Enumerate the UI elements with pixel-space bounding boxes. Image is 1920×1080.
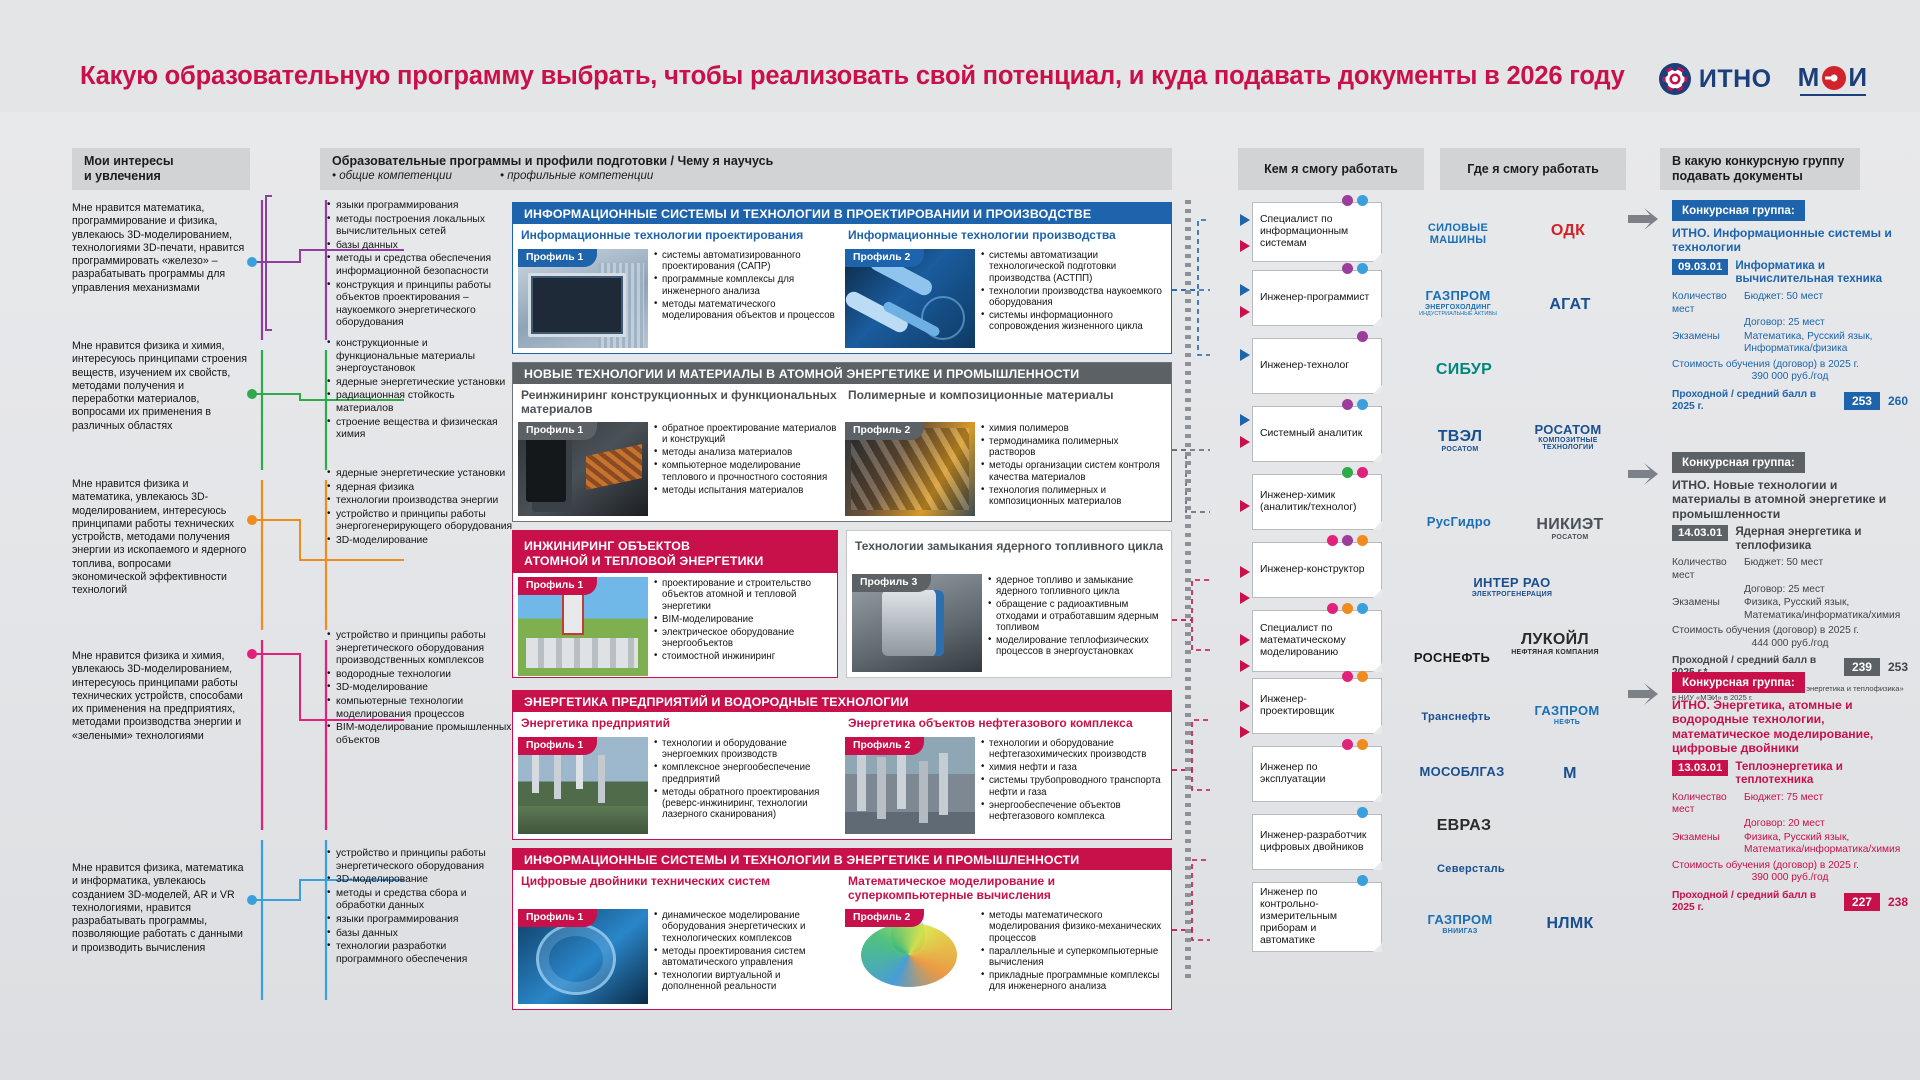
competence-list-2: ядерные энергетические установкиядерная … [327,468,513,548]
companies-column: СИЛОВЫЕ МАШИНЫОДКГАЗПРОМЭНЕРГОХОЛДИНГИНД… [1400,196,1622,1016]
bullet-item: проектирование и строительство объектов … [654,578,832,612]
profile-3-0[interactable]: Энергетика предприятий Профиль 1 техноло… [518,716,839,834]
bullet-item: технология полимерных и композиционных м… [981,485,1166,508]
cg-cost-value-1: 444 000 руб./год [1672,638,1908,650]
cg-cost-label-2: Стоимость обучения (договор) в 2025 г. [1672,860,1859,871]
microscope-image: Профиль 1 [518,422,648,516]
competence-item: компьютерные технологии моделирования пр… [327,696,513,721]
competence-group-2: ядерные энергетические установкиядерная … [327,468,513,549]
company-logo: ЛУКОЙЛНЕФТЯНАЯ КОМПАНИЯ [1492,620,1618,668]
job-label: Инженер-разработчик цифровых двойников [1260,830,1374,854]
profile-bullets-3-1: технологии и оборудование нефтегазохимич… [981,737,1166,834]
cg-seats-contract-2: Договор: 20 мест [1744,818,1908,831]
company-logo-name: ГАЗПРОМ [1419,289,1497,303]
col-groups-line2: подавать документы [1672,169,1844,184]
cg-exams-key-2: Экзамены [1672,832,1738,857]
header-bar: Какую образовательную программу выбрать,… [0,0,1920,112]
col-programs-sub1: • общие компетенции [332,169,500,184]
profile-tag-1-0: Профиль 1 [518,422,597,440]
industrial-plant-image: Профиль 1 [518,737,648,834]
competence-item: базы данных [327,240,513,253]
bullet-item: системы трубопроводного транспорта нефти… [981,775,1166,798]
profile-4-0[interactable]: Цифровые двойники технических систем Про… [518,874,839,1004]
job-card[interactable]: Системный аналитик [1252,406,1382,462]
cg-name-1: ИТНО. Новые технологии и материалы в ато… [1672,478,1908,521]
job-card[interactable]: Инженер-химик (аналитик/технолог) [1252,474,1382,530]
cg-exams-value-1: Физика, Русский язык, Математика/информа… [1744,597,1908,622]
tag-dot [1327,535,1338,546]
bullet-item: параллельные и суперкомпьютерные вычисле… [981,946,1166,969]
tag-dot [1327,603,1338,614]
bullet-item: компьютерное моделирование теплового и п… [654,460,839,483]
company-logo-sub: ВНИИГАЗ [1428,928,1493,935]
tag-dot [1342,467,1353,478]
company-logo-sub: ЭЛЕКТРОГЕНЕРАЦИЯ [1472,591,1552,598]
bullet-item: динамическое моделирование оборудования … [654,910,839,944]
company-logo-name: СИБУР [1436,362,1492,379]
bullet-item: методы математического моделирования физ… [981,910,1166,944]
bullet-item: химия нефти и газа [981,762,1166,773]
competence-item: языки программирования [327,914,513,927]
company-logo: СИБУР [1408,348,1520,392]
tag-dot [1342,263,1353,274]
profile-heading-4-0: Цифровые двойники технических систем [521,875,839,905]
cg-cost-value-0: 390 000 руб./год [1672,371,1908,383]
company-logo-name: ТВЭЛ [1438,429,1483,446]
itno-logo: ИТНО [1658,62,1772,96]
company-logo: РОСНЕФТЬ [1416,634,1488,682]
cg-score-label-2: Проходной / средний балл в 2025 г. [1672,890,1836,914]
company-logo-sub: РОСАТОМ [1438,446,1483,453]
job-tag-dots [1342,467,1368,478]
competence-item: устройство и принципы работы энергетичес… [327,848,513,873]
profile-heading-3-1: Энергетика объектов нефтегазового компле… [848,717,1166,733]
job-label: Системный аналитик [1260,428,1362,440]
tag-dot [1357,263,1368,274]
itno-logo-text: ИТНО [1699,65,1772,94]
column-header-groups: В какую конкурсную группу подавать докум… [1660,148,1860,190]
job-card[interactable]: Инженер по эксплуатации [1252,746,1382,802]
bullet-item: энергообеспечение объектов нефтегазового… [981,800,1166,823]
profile-2-left[interactable]: Профиль 1 проектирование и строительство… [518,577,832,676]
cg-code-0: 09.03.01 [1672,259,1728,275]
profile-0-0[interactable]: Информационные технологии проектирования… [518,228,839,348]
polymer-materials-image: Профиль 2 [845,422,975,516]
program-block-2-right[interactable]: Технологии замыкания ядерного топливного… [846,530,1172,678]
job-tag-dots [1342,195,1368,206]
program-title-2-line1: ИНЖИНИРИНГ ОБЪЕКТОВ [524,539,690,554]
bullet-item: системы автоматизированного проектирован… [654,250,839,273]
cg-score-label-0: Проходной / средний балл в 2025 г. [1672,389,1836,413]
competence-group-3: устройство и принципы работы энергетичес… [327,630,513,748]
moi-emblem-icon [1821,65,1847,91]
cg-cost-label-1: Стоимость обучения (договор) в 2025 г. [1672,625,1859,636]
competence-item: 3D-моделирование [327,682,513,695]
interest-item-1: Мне нравится физика и химия, интересуюсь… [72,340,248,433]
profile-tag-3-0: Профиль 1 [518,737,597,755]
competence-item: ядерные энергетические установки [327,377,513,390]
competence-list-3: устройство и принципы работы энергетичес… [327,630,513,747]
job-label: Инженер-программист [1260,292,1369,304]
bullet-item: методы проектирования систем автоматичес… [654,946,839,969]
job-card[interactable]: Инженер-программист [1252,270,1382,326]
column-header-places: Где я смогу работать [1440,148,1626,190]
tag-dot [1357,807,1368,818]
logo-group: ИТНО М И [1658,62,1868,96]
job-tag-dots [1357,875,1368,886]
profile-heading-0-0: Информационные технологии проектирования [521,229,839,245]
job-card[interactable]: Специалист по информационным системам [1252,202,1382,262]
program-title-0: ИНФОРМАЦИОННЫЕ СИСТЕМЫ И ТЕХНОЛОГИИ В ПР… [513,203,1171,224]
job-tag-dots [1342,739,1368,750]
digital-twin-turbine-image: Профиль 1 [518,909,648,1004]
bullet-item: методы анализа материалов [654,447,839,458]
cfd-simulation-image: Профиль 2 [845,909,975,1004]
profile-bullets-4-1: методы математического моделирования физ… [981,909,1166,1004]
competence-group-1: конструкционные и функциональные материа… [327,338,513,443]
company-logo: НИКИЭТРОСАТОМ [1522,496,1618,562]
bullet-item: технологии и оборудование нефтегазохимич… [981,738,1166,761]
program-block-4[interactable]: ИНФОРМАЦИОННЫЕ СИСТЕМЫ И ТЕХНОЛОГИИ В ЭН… [512,848,1172,1010]
tag-dot [1342,195,1353,206]
col-interests-line1: Мои интересы [84,154,174,169]
bullet-item: термодинамика полимерных растворов [981,436,1166,459]
competence-item: конструкция и принципы работы объектов п… [327,280,513,330]
cg-direction-1: Ядерная энергетика и теплофизика [1735,525,1908,552]
company-logo: СИЛОВЫЕ МАШИНЫ [1406,202,1510,268]
company-logo: Северсталь [1414,850,1528,890]
bullet-item: электрическое оборудование энергообъекто… [654,627,832,650]
job-label: Специалист по математическому моделирова… [1260,623,1374,660]
tag-dot [1357,739,1368,750]
company-logo: АГАТ [1522,266,1618,344]
job-tag-dots [1327,603,1368,614]
competence-list-1: конструкционные и функциональные материа… [327,338,513,442]
company-logo: ГАЗПРОМНЕФТЬ [1516,686,1618,744]
company-logo-sub: ЭНЕРГОХОЛДИНГ [1419,304,1497,311]
company-logo-name: M [1563,766,1577,783]
job-card[interactable]: Инженер-технолог [1252,338,1382,394]
bullet-item: стоимостной инжиниринг [654,651,832,662]
company-logo: РусГидро [1404,492,1514,552]
company-logo-sub: НЕФТЯНАЯ КОМПАНИЯ [1511,649,1599,656]
cg-direction-2: Теплоэнергетика и теплотехника [1735,760,1908,787]
cad-workstation-image: Профиль 1 [518,249,648,348]
tag-dot [1357,603,1368,614]
profile-2-right[interactable]: Технологии замыкания ядерного топливного… [852,539,1166,672]
profile-heading-4-1: Математическое моделирование и суперкомп… [848,875,1166,905]
bullet-item: методы организации систем контроля качес… [981,460,1166,483]
competence-list-4: устройство и принципы работы энергетичес… [327,848,513,966]
profile-tag-4-0: Профиль 1 [518,909,597,927]
competence-item: базы данных [327,928,513,941]
company-logo: ГАЗПРОМЭНЕРГОХОЛДИНГИНДУСТРИАЛЬНЫЕ АКТИВ… [1402,272,1514,334]
program-block-2-left[interactable]: ИНЖИНИРИНГ ОБЪЕКТОВ АТОМНОЙ И ТЕПЛОВОЙ Э… [512,530,838,678]
cg-seats-contract-0: Договор: 25 мест [1744,317,1908,330]
bullet-item: BIM-моделирование [654,614,832,625]
job-label: Инженер по эксплуатации [1260,762,1374,786]
company-logo-sub: НЕФТЬ [1535,719,1600,726]
bullet-item: технологии и оборудование энергоемких пр… [654,738,839,761]
competence-group-4: устройство и принципы работы энергетичес… [327,848,513,967]
cg-seats-budget-1: Бюджет: 50 мест [1744,557,1908,582]
interest-item-2: Мне нравится физика и математика, увлека… [72,478,248,598]
tag-dot [1342,739,1353,750]
bullet-item: системы автоматизации технологической по… [981,250,1166,284]
col-jobs-line1: Кем я смогу работать [1264,162,1398,177]
cg-code-2: 13.03.01 [1672,760,1728,776]
oil-refinery-image: Профиль 2 [845,737,975,834]
company-logo-name: ГАЗПРОМ [1428,913,1493,927]
cg-header-1: Конкурсная группа: [1672,452,1805,473]
moi-underline [1800,94,1866,96]
job-card[interactable]: Инженер-проектировщик [1252,678,1382,734]
competence-item: методы и средства сбора и обработки данн… [327,888,513,913]
company-logo-name: ИНТЕР РАО [1472,576,1552,590]
company-logo-name: ЕВРАЗ [1437,818,1492,835]
profile-heading-2-right: Технологии замыкания ядерного топливного… [855,540,1166,570]
job-tag-dots [1342,671,1368,682]
profile-bullets-3-0: технологии и оборудование энергоемких пр… [654,737,839,834]
tag-dot [1357,535,1368,546]
tag-dot [1357,467,1368,478]
company-logo-name: АГАТ [1549,297,1590,314]
program-block-0[interactable]: ИНФОРМАЦИОННЫЕ СИСТЕМЫ И ТЕХНОЛОГИИ В ПР… [512,202,1172,354]
bullet-item: обращение с радиоактивным отходами и отр… [988,599,1166,633]
company-logo: ОДК [1518,200,1618,262]
column-header-jobs: Кем я смогу работать [1238,148,1424,190]
profile-bullets-1-0: обратное проектирование материалов и кон… [654,422,839,516]
interest-item-4: Мне нравится физика, математика и информ… [72,862,248,955]
competence-item: водородные технологии [327,669,513,682]
company-logo-name: РусГидро [1427,515,1491,529]
cg-name-0: ИТНО. Информационные системы и технологи… [1672,226,1908,255]
company-logo-sub2: ИНДУСТРИАЛЬНЫЕ АКТИВЫ [1419,311,1497,317]
cg-header-0: Конкурсная группа: [1672,200,1805,221]
competence-item: языки программирования [327,200,513,213]
company-logo-name: РОСНЕФТЬ [1414,651,1490,665]
company-logo-name: НЛМК [1546,916,1593,933]
job-card[interactable]: Инженер-конструктор [1252,542,1382,598]
cg-exams-key-1: Экзамены [1672,597,1738,622]
competence-group-0: языки программированияметоды построения … [327,200,513,331]
profile-heading-0-1: Информационные технологии производства [848,229,1166,245]
tag-dot [1342,603,1353,614]
company-logo: ЕВРАЗ [1410,806,1518,846]
competence-item: конструкционные и функциональные материа… [327,338,513,376]
profile-1-0[interactable]: Реинжиниринг конструкционных и функциона… [518,388,839,516]
job-tag-dots [1327,535,1368,546]
company-logo-name: Северсталь [1437,864,1505,876]
program-block-1[interactable]: НОВЫЕ ТЕХНОЛОГИИ И МАТЕРИАЛЫ В АТОМНОЙ Э… [512,362,1172,522]
profile-tag-0-1: Профиль 2 [845,249,924,267]
program-title-2: ИНЖИНИРИНГ ОБЪЕКТОВ АТОМНОЙ И ТЕПЛОВОЙ Э… [513,531,837,573]
competence-item: 3D-моделирование [327,535,513,548]
profile-bullets-2-right: ядерное топливо и замыкание ядерного топ… [988,574,1166,672]
tag-dot [1357,331,1368,342]
program-title-2-line2: АТОМНОЙ И ТЕПЛОВОЙ ЭНЕРГЕТИКИ [524,554,763,569]
company-logo-name: ЛУКОЙЛ [1511,632,1599,649]
column-header-programs: Образовательные программы и профили подг… [320,148,1172,190]
profile-tag-1-1: Профиль 2 [845,422,924,440]
company-logo: ГАЗПРОМВНИИГАЗ [1404,896,1516,952]
col-interests-line2: и увлечения [84,169,174,184]
cg-code-1: 14.03.01 [1672,525,1728,541]
moi-logo: М И [1798,62,1868,96]
competence-item: BIM-моделирование промышленных объектов [327,722,513,747]
job-label: Инженер по контрольно-измерительным приб… [1260,887,1374,948]
job-card[interactable]: Специалист по математическому моделирова… [1252,610,1382,672]
competence-item: 3D-моделирование [327,874,513,887]
profile-3-1[interactable]: Энергетика объектов нефтегазового компле… [845,716,1166,834]
tag-dot [1357,875,1368,886]
job-card[interactable]: Инженер-разработчик цифровых двойников [1252,814,1382,870]
profile-bullets-4-0: динамическое моделирование оборудования … [654,909,839,1004]
tag-dot [1357,671,1368,682]
company-logo-name: ОДК [1551,223,1585,240]
competition-group-2[interactable]: Конкурсная группа: ИТНО. Энергетика, ато… [1672,672,1908,914]
bullet-item: технологии виртуальной и дополненной реа… [654,970,839,993]
company-logo-name: РОСАТОМ [1518,423,1618,437]
cg-seats-key-0: Количество мест [1672,291,1738,316]
program-block-3[interactable]: ЭНЕРГЕТИКА ПРЕДПРИЯТИЙ И ВОДОРОДНЫЕ ТЕХН… [512,690,1172,840]
bullet-item: ядерное топливо и замыкание ядерного топ… [988,575,1166,598]
profile-tag-3-1: Профиль 2 [845,737,924,755]
industrial-robot-image: Профиль 2 [845,249,975,348]
competence-item: методы и средства обеспечения информацио… [327,253,513,278]
competence-item: строение вещества и физическая химия [327,417,513,442]
cg-seats-key-2: Количество мест [1672,792,1738,817]
job-label: Инженер-технолог [1260,360,1349,372]
col-groups-line1: В какую конкурсную группу [1672,154,1844,169]
job-label: Инженер-химик (аналитик/технолог) [1260,490,1374,514]
company-logo-name: Транснефть [1421,712,1490,724]
profile-heading-3-0: Энергетика предприятий [521,717,839,733]
competence-item: технологии производства энергии [327,495,513,508]
cg-score-avg-2: 238 [1888,895,1908,909]
company-logo: МОСОБЛГАЗ [1406,752,1518,792]
cg-seats-budget-2: Бюджет: 75 мест [1744,792,1908,817]
job-label: Специалист по информационным системам [1260,214,1374,251]
company-logo: ИНТЕР РАОЭЛЕКТРОГЕНЕРАЦИЯ [1406,562,1618,612]
tag-dot [1357,399,1368,410]
cg-exams-value-2: Физика, Русский язык, Математика/информа… [1744,832,1908,857]
company-logo-name: НИКИЭТ [1536,517,1603,534]
company-logo: РОСАТОМКОМПОЗИТНЫЕ ТЕХНОЛОГИИ [1518,394,1618,480]
nuclear-power-plant-image: Профиль 1 [518,577,648,676]
program-title-4: ИНФОРМАЦИОННЫЕ СИСТЕМЫ И ТЕХНОЛОГИИ В ЭН… [513,849,1171,870]
bullet-item: моделирование теплофизических процессов … [988,635,1166,658]
cg-exams-value-0: Математика, Русский язык, Информатика/фи… [1744,331,1908,356]
tag-dot [1342,399,1353,410]
competence-item: радиационная стойкость материалов [327,390,513,415]
cg-seats-contract-1: Договор: 25 мест [1744,584,1908,597]
profile-0-1[interactable]: Информационные технологии производства П… [845,228,1166,348]
bullet-item: методы обратного проектирования (реверс-… [654,787,839,821]
profile-tag-2-left: Профиль 1 [518,577,597,595]
job-label: Инженер-конструктор [1260,564,1365,576]
profile-heading-1-1: Полимерные и композиционные материалы [848,389,1166,418]
company-logo-sub: РОСАТОМ [1536,534,1603,541]
bullet-item: комплексное энергообеспечение предприяти… [654,762,839,785]
bullet-item: методы испытания материалов [654,485,839,496]
competence-item: технологии разработки программного обесп… [327,941,513,966]
competence-item: ядерная физика [327,482,513,495]
tag-dot [1342,535,1353,546]
profile-bullets-1-1: химия полимеровтермодинамика полимерных … [981,422,1166,516]
company-logo-sub: КОМПОЗИТНЫЕ ТЕХНОЛОГИИ [1518,437,1618,451]
cg-direction-0: Информатика и вычислительная техника [1735,259,1908,286]
cg-seats-key-1: Количество мест [1672,557,1738,582]
profile-4-1[interactable]: Математическое моделирование и суперкомп… [845,874,1166,1004]
profile-tag-0-0: Профиль 1 [518,249,597,267]
bullet-item: химия полимеров [981,423,1166,434]
cg-cost-label-0: Стоимость обучения (договор) в 2025 г. [1672,359,1859,370]
cg-exams-key-0: Экзамены [1672,331,1738,356]
profile-heading-1-0: Реинжиниринг конструкционных и функциона… [521,389,839,418]
bullet-item: обратное проектирование материалов и кон… [654,423,839,446]
company-logo: M [1522,748,1618,800]
reactor-model-image: Профиль 3 [852,574,982,672]
cg-cost-value-2: 390 000 руб./год [1672,872,1908,884]
competence-item: устройство и принципы работы энергетичес… [327,630,513,668]
profile-bullets-0-1: системы автоматизации технологической по… [981,249,1166,348]
profile-tag-2-right: Профиль 3 [852,574,931,592]
col-programs-line1: Образовательные программы и профили подг… [332,154,1160,169]
job-label: Инженер-проектировщик [1260,694,1374,718]
job-tag-dots [1357,807,1368,818]
competence-item: методы построения локальных вычислительн… [327,214,513,239]
competition-group-0[interactable]: Конкурсная группа: ИТНО. Информационные … [1672,200,1908,413]
company-logo-name: ГАЗПРОМ [1535,704,1600,718]
cg-score-pass-2: 227 [1844,893,1880,911]
moi-letter-m: М [1798,62,1821,93]
job-card[interactable]: Инженер по контрольно-измерительным приб… [1252,882,1382,952]
col-places-line1: Где я смогу работать [1467,162,1599,177]
company-logo: ТВЭЛРОСАТОМ [1412,402,1508,480]
cg-seats-budget-0: Бюджет: 50 мест [1744,291,1908,316]
cg-name-2: ИТНО. Энергетика, атомные и водородные т… [1672,698,1908,756]
tag-dot [1357,195,1368,206]
competence-item: устройство и принципы работы энергогенер… [327,509,513,534]
tag-dot [1342,671,1353,682]
page-title: Какую образовательную программу выбрать,… [80,62,1625,91]
bullet-item: технологии производства наукоемкого обор… [981,286,1166,309]
cg-score-pass-0: 253 [1844,392,1880,410]
company-logo-name: МОСОБЛГАЗ [1419,765,1504,779]
cg-header-2: Конкурсная группа: [1672,672,1805,693]
company-logo: Транснефть [1404,696,1508,740]
competition-group-1[interactable]: Конкурсная группа: ИТНО. Новые технологи… [1672,452,1908,702]
profile-bullets-0-0: системы автоматизированного проектирован… [654,249,839,348]
bullet-item: системы информационного сопровождения жи… [981,310,1166,333]
profile-bullets-2-left: проектирование и строительство объектов … [654,577,832,676]
competence-list-0: языки программированияметоды построения … [327,200,513,330]
competence-item: ядерные энергетические установки [327,468,513,481]
job-tag-dots [1357,331,1368,342]
interest-item-3: Мне нравится физика и химия, увлекаюсь 3… [72,650,248,743]
program-title-3: ЭНЕРГЕТИКА ПРЕДПРИЯТИЙ И ВОДОРОДНЫЕ ТЕХН… [513,691,1171,712]
bullet-item: методы математического моделирования объ… [654,299,839,322]
job-tag-dots [1342,399,1368,410]
interest-item-0: Мне нравится математика, программировани… [72,202,248,295]
cg-score-avg-0: 260 [1888,394,1908,408]
itno-gear-icon [1658,62,1692,96]
bullet-item: прикладные программные комплексы для инж… [981,970,1166,993]
column-header-interests: Мои интересы и увлечения [72,148,250,190]
profile-tag-4-1: Профиль 2 [845,909,924,927]
profile-1-1[interactable]: Полимерные и композиционные материалы Пр… [845,388,1166,516]
